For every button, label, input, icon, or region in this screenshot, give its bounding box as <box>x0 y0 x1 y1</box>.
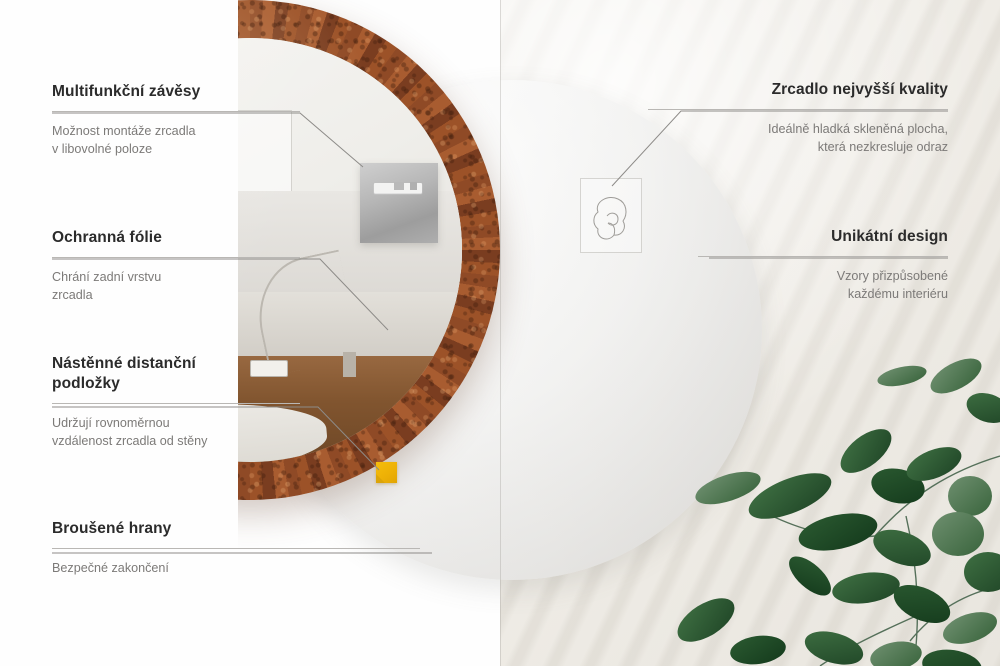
callout-description: Bezpečné zakončení <box>52 559 420 577</box>
hanger-slot-notch <box>394 182 404 190</box>
callout-top-quality-mirror: Zrcadlo nejvyšší kvality Ideálně hladká … <box>648 80 948 156</box>
hanger-slot-notch-secondary <box>410 182 417 190</box>
callout-rule <box>698 256 948 257</box>
callout-unique-design: Unikátní design Vzory přizpůsobené každé… <box>698 227 948 303</box>
callout-rule <box>52 548 420 549</box>
callout-protective-foil: Ochranná fólie Chrání zadní vrstvu zrcad… <box>52 228 300 304</box>
callout-description: Chrání zadní vrstvu zrcadla <box>52 268 300 305</box>
split-seam <box>500 0 501 666</box>
callout-title: Zrcadlo nejvyšší kvality <box>648 80 948 100</box>
callout-description: Ideálně hladká skleněná plocha, která ne… <box>648 120 948 157</box>
callout-title: Broušené hrany <box>52 519 420 539</box>
callout-description: Možnost montáže zrcadla v libovolné polo… <box>52 122 300 159</box>
callout-title: Multifunkční závěsy <box>52 82 300 102</box>
callout-wall-spacers: Nástěnné distanční podložky Udržují rovn… <box>52 354 300 450</box>
callout-title: Unikátní design <box>698 227 948 247</box>
callout-title: Nástěnné distanční podložky <box>52 354 300 394</box>
callout-description: Vzory přizpůsobené každému interiéru <box>698 267 948 304</box>
callout-polished-edges: Broušené hrany Bezpečné zakončení <box>52 519 420 577</box>
callout-rule <box>648 109 948 110</box>
callout-rule <box>52 111 300 112</box>
wall-spacer-pad <box>376 462 397 483</box>
callout-title: Ochranná fólie <box>52 228 300 248</box>
callout-rule <box>52 403 300 404</box>
spacer-bevel <box>376 474 385 483</box>
hanger-plate <box>360 163 438 243</box>
callout-description: Udržují rovnoměrnou vzdálenost zrcadla o… <box>52 414 300 451</box>
foliage-decoration <box>670 336 1000 666</box>
callout-multifunctional-hangers: Multifunkční závěsy Možnost montáže zrca… <box>52 82 300 158</box>
infographic-canvas: Multifunkční závěsy Možnost montáže zrca… <box>0 0 1000 666</box>
callout-rule <box>52 257 300 258</box>
